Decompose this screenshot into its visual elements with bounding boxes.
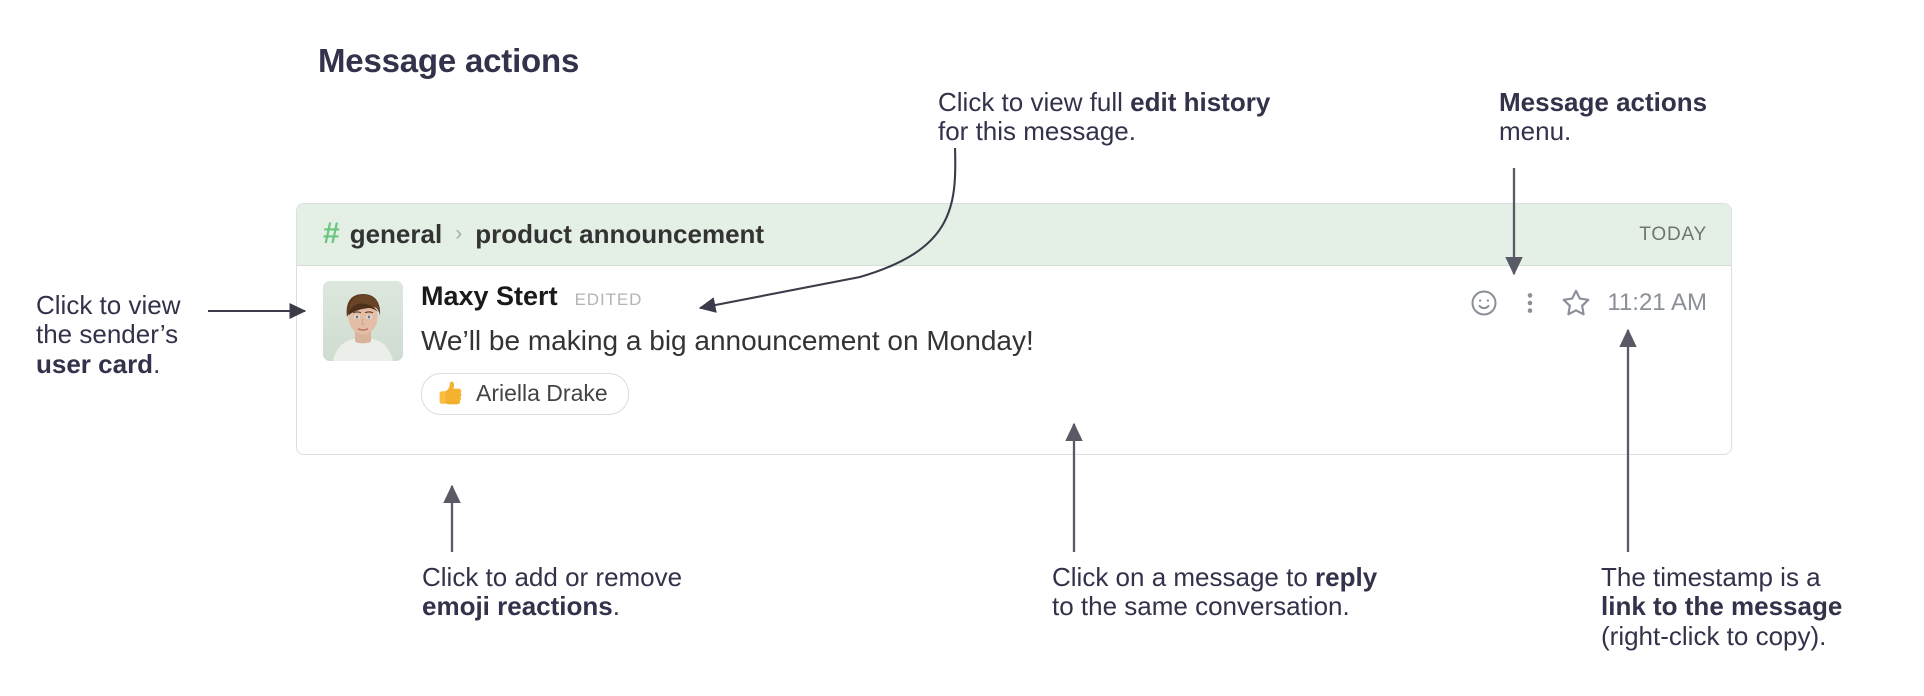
message-card: # general › product announcement TODAY xyxy=(296,203,1732,455)
stream-name[interactable]: general xyxy=(350,219,443,250)
message-timestamp[interactable]: 11:21 AM xyxy=(1607,289,1707,317)
annotation-tail: . xyxy=(153,349,160,379)
annotation-actions-menu: Message actions menu. xyxy=(1499,88,1707,147)
sender-name[interactable]: Maxy Stert xyxy=(421,281,558,312)
annotation-line: Message actions xyxy=(1499,88,1707,117)
annotation-line: emoji reactions. xyxy=(422,592,682,621)
annotation-emphasis: link to the message xyxy=(1601,591,1842,621)
date-label[interactable]: TODAY xyxy=(1639,224,1707,246)
annotation-line: user card. xyxy=(36,350,180,379)
annotation-line: menu. xyxy=(1499,117,1707,146)
annotation-emphasis: reply xyxy=(1315,562,1377,592)
page-title: Message actions xyxy=(318,42,579,80)
topic-name[interactable]: product announcement xyxy=(475,219,764,250)
annotation-lead: Click to view full xyxy=(938,87,1130,117)
message-actions-toolbar: 11:21 AM xyxy=(1461,283,1707,323)
annotation-line: Click on a message to reply xyxy=(1052,563,1377,592)
message-actions-menu-icon[interactable] xyxy=(1507,283,1553,323)
annotation-line: The timestamp is a xyxy=(1601,563,1842,592)
annotation-user-card: Click to view the sender’s user card. xyxy=(36,291,180,379)
edited-badge[interactable]: EDITED xyxy=(575,290,643,310)
annotation-lead: Click on a message to xyxy=(1052,562,1315,592)
annotation-line: link to the message xyxy=(1601,592,1842,621)
emoji-reaction-icon[interactable] xyxy=(1461,283,1507,323)
annotation-emphasis: Message actions xyxy=(1499,87,1707,117)
message-row[interactable]: Maxy Stert EDITED We’ll be making a big … xyxy=(297,266,1731,415)
avatar[interactable] xyxy=(323,281,403,361)
annotation-line: Click to view xyxy=(36,291,180,320)
annotation-emoji-reactions: Click to add or remove emoji reactions. xyxy=(422,563,682,622)
annotation-line: the sender’s xyxy=(36,320,180,349)
message-text[interactable]: We’ll be making a big announcement on Mo… xyxy=(421,324,1707,358)
star-icon[interactable] xyxy=(1553,283,1599,323)
annotation-line: Click to view full edit history xyxy=(938,88,1270,117)
recipient-bar: # general › product announcement TODAY xyxy=(297,204,1731,266)
emoji-reaction-pill[interactable]: Ariella Drake xyxy=(421,373,629,415)
annotation-line: to the same conversation. xyxy=(1052,592,1377,621)
annotation-line: (right-click to copy). xyxy=(1601,622,1842,651)
chevron-right-icon: › xyxy=(455,222,462,246)
annotation-timestamp: The timestamp is a link to the message (… xyxy=(1601,563,1842,651)
annotation-emphasis: user card xyxy=(36,349,153,379)
annotation-line: for this message. xyxy=(938,117,1270,146)
annotation-tail: . xyxy=(613,591,620,621)
reaction-row: Ariella Drake xyxy=(421,373,1707,415)
reaction-label: Ariella Drake xyxy=(476,380,608,407)
annotation-emphasis: emoji reactions xyxy=(422,591,613,621)
annotation-emphasis: edit history xyxy=(1130,87,1270,117)
thumbs-up-icon xyxy=(435,379,465,409)
annotation-line: Click to add or remove xyxy=(422,563,682,592)
annotation-reply: Click on a message to reply to the same … xyxy=(1052,563,1377,622)
hash-icon: # xyxy=(323,219,340,249)
annotation-edit-history: Click to view full edit history for this… xyxy=(938,88,1270,147)
